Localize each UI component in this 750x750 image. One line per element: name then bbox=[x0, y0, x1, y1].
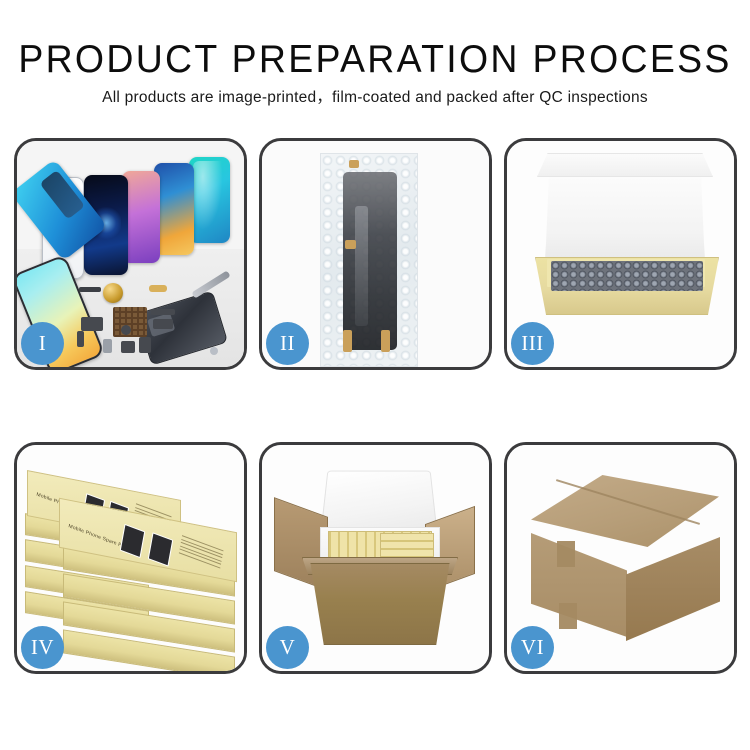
small-part-icon bbox=[79, 287, 101, 292]
step-panel-1: I bbox=[14, 138, 247, 370]
box-window-icon bbox=[120, 524, 146, 558]
battery-part-icon bbox=[103, 339, 112, 353]
page-title: PRODUCT PREPARATION PROCESS bbox=[15, 38, 735, 82]
ribbon-cable-icon bbox=[151, 309, 175, 315]
page-subtitle: All products are image-printed，film-coat… bbox=[0, 88, 750, 108]
step-panel-2: II bbox=[259, 138, 492, 370]
camera-module-icon bbox=[121, 341, 135, 353]
gold-tab-icon bbox=[381, 330, 390, 352]
vibrator-part-icon bbox=[139, 337, 151, 353]
flex-cable-icon bbox=[77, 331, 84, 347]
packing-tape-icon bbox=[559, 603, 577, 629]
phone-teal-icon bbox=[189, 157, 230, 243]
step-number-badge-1: I bbox=[21, 322, 64, 365]
step-number-badge-2: II bbox=[266, 322, 309, 365]
ribbon-cable-icon bbox=[153, 319, 173, 329]
gold-tab-icon bbox=[345, 240, 356, 249]
step-number-badge-4: IV bbox=[21, 626, 64, 669]
gold-connector-icon bbox=[149, 285, 167, 292]
screw-icon bbox=[121, 325, 131, 335]
step-panel-3: III bbox=[504, 138, 737, 370]
gold-tab-icon bbox=[349, 160, 359, 168]
flex-cable-icon bbox=[81, 317, 103, 331]
packing-tape-icon bbox=[557, 541, 575, 567]
header: PRODUCT PREPARATION PROCESS All products… bbox=[0, 38, 750, 108]
product-preparation-infographic: PRODUCT PREPARATION PROCESS All products… bbox=[0, 0, 750, 750]
step-panel-5: V bbox=[259, 442, 492, 674]
box-spec-lines bbox=[178, 535, 223, 570]
bubble-wrapped-contents-icon bbox=[551, 261, 703, 291]
step-number-badge-6: VI bbox=[511, 626, 554, 669]
step-panel-4: Mobile Phone Spare Parts Mobile bbox=[14, 442, 247, 674]
step-number-badge-3: III bbox=[511, 322, 554, 365]
gold-tab-icon bbox=[343, 330, 352, 352]
step-panel-6: VI bbox=[504, 442, 737, 674]
screw-icon bbox=[210, 347, 218, 355]
process-step-grid: I II bbox=[14, 138, 736, 674]
carton-body-icon bbox=[306, 563, 454, 645]
wrapped-phone-part-icon bbox=[343, 172, 397, 350]
box-lid-flap-icon bbox=[537, 153, 713, 177]
box-window-icon bbox=[148, 532, 174, 566]
foam-lid-icon bbox=[320, 471, 438, 536]
bubble-wrap-bag-icon bbox=[320, 153, 418, 367]
speaker-coil-icon bbox=[103, 283, 123, 303]
phone-blue-orange-icon bbox=[154, 163, 194, 255]
step-number-badge-5: V bbox=[266, 626, 309, 669]
